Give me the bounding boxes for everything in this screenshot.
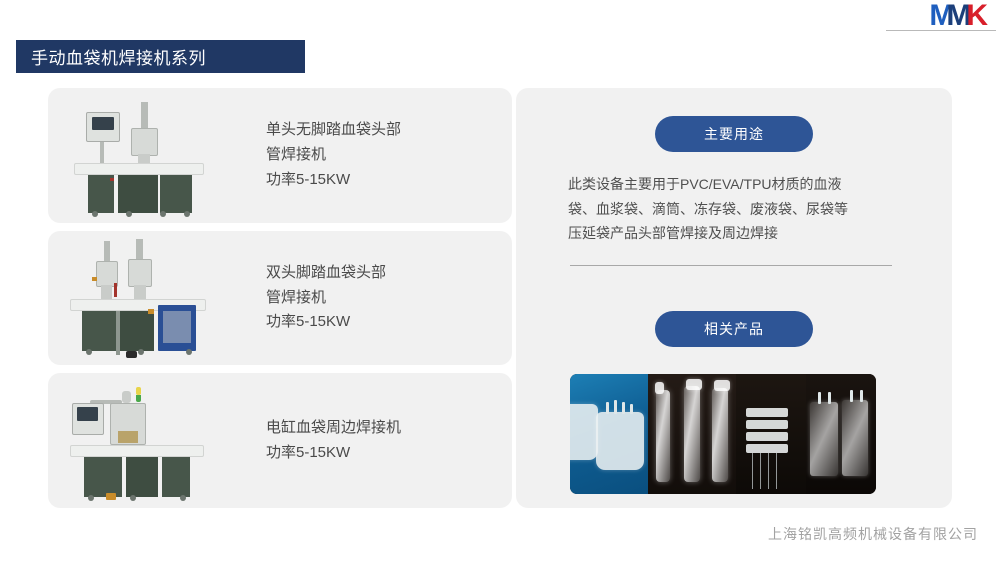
- related-products-badge[interactable]: 相关产品: [655, 311, 813, 347]
- filter-comb-photo: [736, 374, 806, 494]
- logo-letter-k: K: [966, 0, 986, 32]
- usage-badge-label: 主要用途: [704, 124, 764, 144]
- product-line: 电缸血袋周边焊接机: [266, 416, 500, 441]
- double-head-pedal-welder-photo: [48, 231, 258, 366]
- usage-line: 袋、血浆袋、滴筒、冻存袋、废液袋、尿袋等: [568, 197, 918, 222]
- product-card[interactable]: 电缸血袋周边焊接机 功率5-15KW: [48, 373, 512, 508]
- product-line: 管焊接机: [266, 143, 500, 168]
- logo-underline: [886, 30, 996, 31]
- related-products-badge-label: 相关产品: [704, 319, 764, 339]
- drip-chamber-photo-left: [648, 374, 736, 494]
- product-card-text: 双头脚踏血袋头部 管焊接机 功率5-15KW: [258, 261, 512, 335]
- single-head-welder-photo: [48, 88, 258, 223]
- product-card-list: 单头无脚踏血袋头部 管焊接机 功率5-15KW: [48, 88, 512, 508]
- section-divider: [570, 265, 892, 266]
- product-line: 单头无脚踏血袋头部: [266, 118, 500, 143]
- logo-mark: MMK: [929, 1, 986, 31]
- product-card[interactable]: 双头脚踏血袋头部 管焊接机 功率5-15KW: [48, 231, 512, 366]
- usage-badge[interactable]: 主要用途: [655, 116, 813, 152]
- pouch-products-photo: [806, 374, 876, 494]
- usage-line: 压延袋产品头部管焊接及周边焊接: [568, 221, 918, 246]
- footer-company-name: 上海铭凯高频机械设备有限公司: [768, 524, 978, 544]
- electric-cylinder-welder-photo: [48, 373, 258, 508]
- slide-root: MMK 手动血袋机焊接机系列: [0, 0, 1000, 562]
- info-panel: 主要用途 此类设备主要用于PVC/EVA/TPU材质的血液 袋、血浆袋、滴筒、冻…: [516, 88, 952, 508]
- page-title: 手动血袋机焊接机系列: [16, 44, 206, 69]
- company-logo: MMK: [882, 0, 1000, 34]
- usage-description: 此类设备主要用于PVC/EVA/TPU材质的血液 袋、血浆袋、滴筒、冻存袋、废液…: [568, 172, 918, 246]
- product-card-text: 单头无脚踏血袋头部 管焊接机 功率5-15KW: [258, 118, 512, 192]
- product-line: 功率5-15KW: [266, 310, 500, 335]
- product-line: 功率5-15KW: [266, 441, 500, 466]
- product-line: 双头脚踏血袋头部: [266, 261, 500, 286]
- product-card-text: 电缸血袋周边焊接机 功率5-15KW: [258, 416, 512, 466]
- product-line: 功率5-15KW: [266, 168, 500, 193]
- blood-bag-photo: [570, 374, 648, 494]
- related-products-composite-photo: [570, 374, 876, 494]
- product-card[interactable]: 单头无脚踏血袋头部 管焊接机 功率5-15KW: [48, 88, 512, 223]
- usage-line: 此类设备主要用于PVC/EVA/TPU材质的血液: [568, 172, 918, 197]
- section-title-banner: 手动血袋机焊接机系列: [16, 40, 305, 73]
- product-line: 管焊接机: [266, 286, 500, 311]
